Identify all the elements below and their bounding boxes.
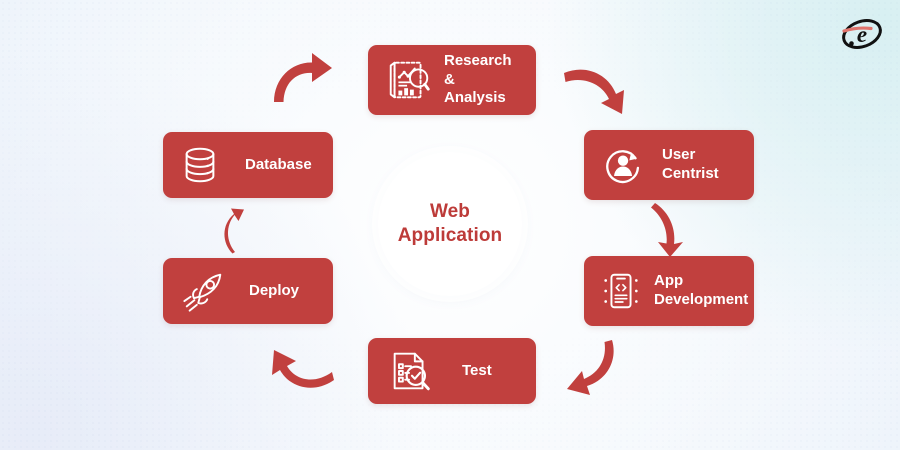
center-label: Web Application [378,200,522,248]
stage-box-test[interactable]: Test [368,338,536,404]
curved-arrow-down-left-icon [560,334,630,400]
document-checklist-magnifier-icon [382,346,440,396]
stage-label-app-development: App Development [654,272,748,310]
stage-box-app-development[interactable]: App Development [584,256,754,326]
curved-arrow-up-icon [205,196,267,258]
stage-box-database[interactable]: Database [163,132,333,198]
stage-box-research-analysis[interactable]: Research & Analysis [368,45,536,115]
stage-label-user-centrist: User Centrist [662,146,719,184]
stylized-e-ellipse-logo: e [838,12,886,56]
stage-label-database: Database [245,156,312,175]
stage-label-deploy: Deploy [249,282,299,301]
rocket-icon [177,268,231,314]
curved-arrow-down-icon [640,198,702,260]
stage-box-user-centrist[interactable]: User Centrist [584,130,754,200]
center-hub: Web Application [378,152,522,296]
infographic-canvas: e Web Application [0,0,900,450]
curved-arrow-up-left-icon [266,340,338,400]
stage-label-research-analysis: Research & Analysis [444,52,522,108]
logo-letter: e [857,22,867,47]
database-cylinder-icon [177,142,223,188]
curved-arrow-down-right-icon [560,56,632,118]
stage-box-deploy[interactable]: Deploy [163,258,333,324]
stage-label-test: Test [462,362,492,381]
mobile-code-icon [598,268,644,314]
chart-report-magnifier-icon [382,55,436,105]
curved-arrow-up-right-icon [268,48,338,110]
user-circular-arrow-icon [598,142,650,188]
